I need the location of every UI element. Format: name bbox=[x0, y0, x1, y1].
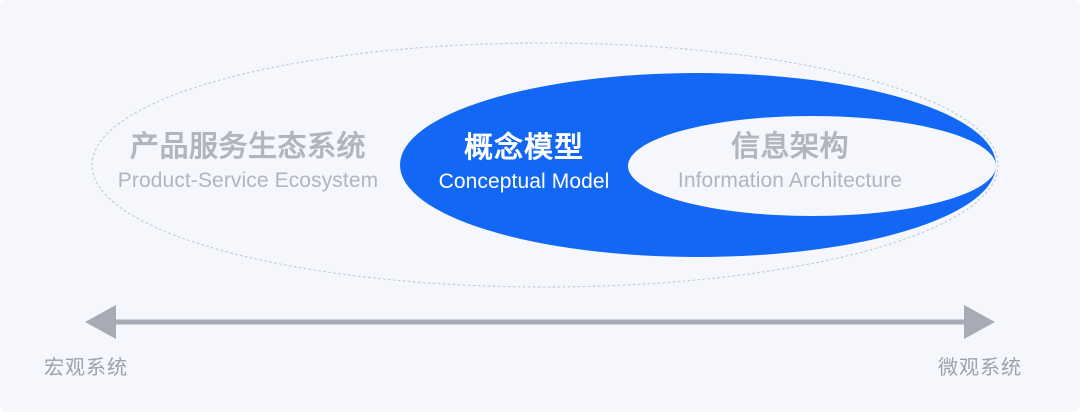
label-ecosystem-cn: 产品服务生态系统 bbox=[110, 133, 386, 162]
label-information-architecture: 信息架构 Information Architecture bbox=[664, 133, 916, 191]
axis-label-macro-system: 宏观系统 bbox=[44, 351, 128, 380]
axis-arrowhead-left bbox=[85, 305, 116, 339]
label-conceptual-model-cn: 概念模型 bbox=[424, 134, 624, 163]
label-ecosystem-en: Product-Service Ecosystem bbox=[110, 170, 386, 191]
axis-arrowhead-right bbox=[964, 305, 995, 339]
nested-ellipse-diagram bbox=[0, 0, 1080, 412]
label-conceptual-model: 概念模型 Conceptual Model bbox=[424, 134, 624, 192]
label-product-service-ecosystem: 产品服务生态系统 Product-Service Ecosystem bbox=[110, 133, 386, 191]
label-conceptual-model-en: Conceptual Model bbox=[424, 171, 624, 192]
label-information-architecture-en: Information Architecture bbox=[664, 170, 916, 191]
scale-axis-arrow bbox=[85, 305, 995, 339]
axis-label-micro-system: 微观系统 bbox=[938, 351, 1022, 380]
label-information-architecture-cn: 信息架构 bbox=[664, 133, 916, 162]
diagram-canvas: 产品服务生态系统 Product-Service Ecosystem 概念模型 … bbox=[0, 0, 1080, 412]
